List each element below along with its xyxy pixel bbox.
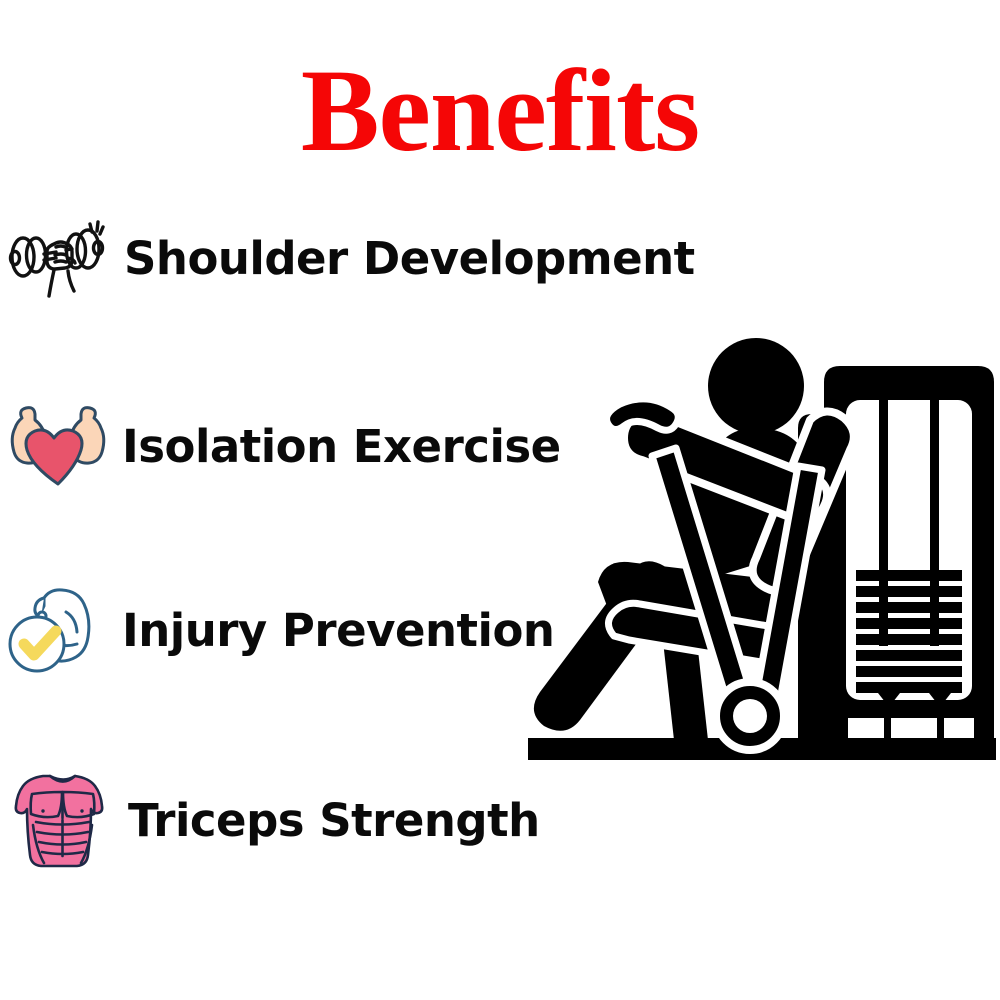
muscular-torso-icon	[10, 770, 118, 870]
benefit-label: Triceps Strength	[128, 798, 540, 843]
seated-press-machine-illustration	[498, 320, 1000, 770]
benefit-item-isolation-exercise: Isolation Exercise	[4, 394, 561, 498]
benefit-item-injury-prevention: Injury Prevention	[4, 578, 554, 682]
benefit-label: Isolation Exercise	[122, 424, 561, 469]
benefit-item-triceps-strength: Triceps Strength	[10, 768, 540, 872]
bicep-check-icon	[4, 580, 112, 680]
heart-flexing-arms-icon	[4, 396, 112, 496]
benefit-label: Shoulder Development	[124, 236, 695, 281]
dumbbell-hand-icon	[6, 208, 114, 308]
infographic-canvas: Benefits	[0, 0, 1000, 1000]
benefit-item-shoulder-development: Shoulder Development	[6, 206, 695, 310]
page-title: Benefits	[0, 52, 1000, 170]
benefit-label: Injury Prevention	[122, 608, 554, 653]
